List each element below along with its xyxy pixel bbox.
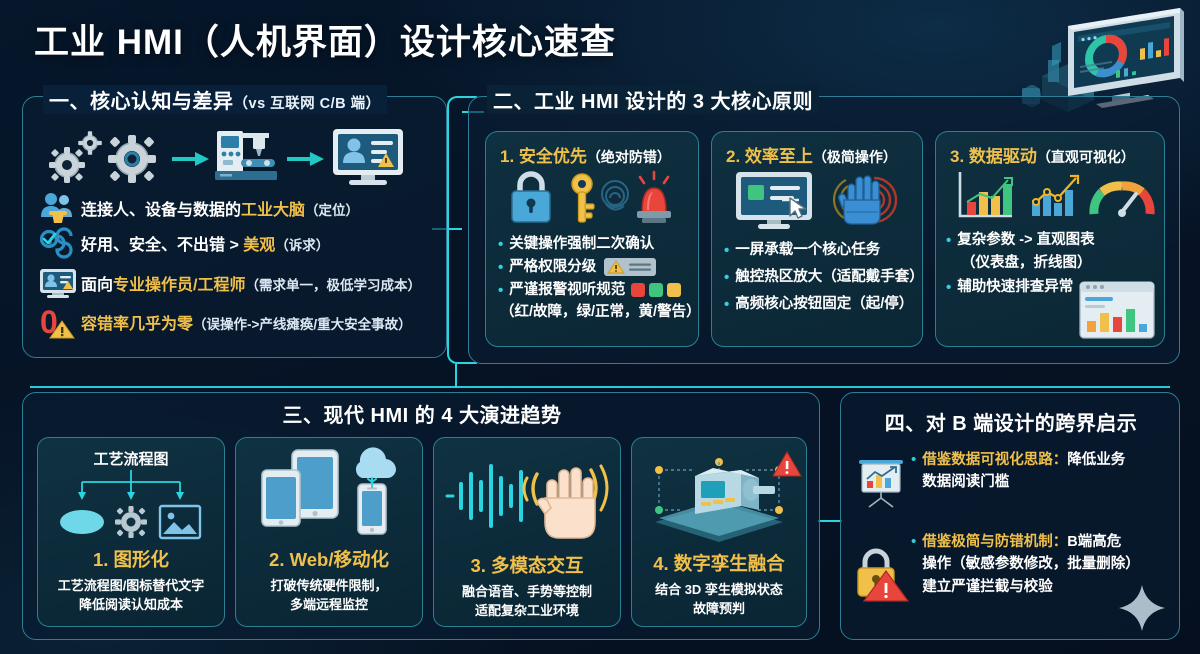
bullet-item: • 触控热区放大（适配戴手套） [724, 267, 920, 289]
section1-row: 面向专业操作员/工程师（需求单一，极低学习成本） [35, 267, 421, 299]
trend-desc-graphical: 工艺流程图/图标替代文字 降低阅读认知成本 [58, 577, 205, 615]
data-icon-row [954, 170, 1154, 222]
bullet-dot: • [724, 294, 729, 316]
people-connect-icon [35, 191, 81, 225]
bullet-text: 高频核心按钮固定（起/停） [735, 294, 913, 316]
status-swatch-yellow [667, 283, 681, 297]
safety-icon-row [506, 170, 686, 226]
section1-row-text: 容错率几乎为零（误操作->产线瘫痪/重大安全事故） [81, 310, 412, 334]
monitor-cursor-icon [736, 172, 812, 229]
section-design-principles: 二、工业 HMI 设计的 3 大核心原则 1. 安全优先（绝对防错） [468, 96, 1180, 364]
section1-row-text: 面向专业操作员/工程师（需求单一，极低学习成本） [81, 271, 421, 295]
principle-card-efficiency: 2. 效率至上（极简操作） [711, 131, 923, 347]
efficiency-icon-row [734, 170, 910, 230]
gears-icon [49, 131, 156, 183]
trend-card-multimodal: 3. 多模态交互 融合语音、手势等控制 适配复杂工业环境 [433, 437, 621, 627]
section1-row: 连接人、设备与数据的工业大脑（定位） [35, 191, 359, 225]
arrow-right-icon [172, 152, 209, 166]
bullet-item: • 严谨报警视听规范 [498, 280, 696, 302]
bullet-text: 触控热区放大（适配戴手套） [735, 267, 924, 289]
hmi-monitor-icon [333, 129, 403, 185]
infinity-check-icon [35, 229, 81, 257]
section1-row-text: 好用、安全、不出错 > 美观（诉求） [81, 231, 329, 255]
bullet-text: 严格权限分级 [509, 257, 596, 279]
gauge-icon [1094, 186, 1150, 217]
bullet-dot: • [946, 277, 951, 299]
zero-warning-icon: 0 [35, 305, 81, 339]
tablet-phone-cloud-icon [244, 444, 414, 544]
section1-title: 一、核心认知与差异（vs 互联网 C/B 端） [43, 85, 387, 114]
bullet-text: 严谨报警视听规范 [509, 280, 625, 302]
section2-title: 二、工业 HMI 设计的 3 大核心原则 [487, 85, 819, 114]
gloved-hand-fingerprint-icon [834, 176, 896, 224]
rgy-status-swatches [631, 280, 681, 297]
digital-twin-icon [637, 448, 801, 546]
card-title-efficiency: 2. 效率至上（极简操作） [726, 142, 897, 167]
bullet-text: 一屏承载一个核心任务 [735, 240, 880, 262]
section3-title: 三、现代 HMI 的 4 大演进趋势 [23, 399, 821, 428]
section1-title-sub: （vs 互联网 C/B 端） [234, 96, 381, 112]
status-swatch-green [649, 283, 663, 297]
safety-bullets: • 关键操作强制二次确认 • 严格权限分级 [498, 234, 696, 324]
principle-card-data-driven: 3. 数据驱动（直观可视化） [935, 131, 1165, 347]
trend-desc-digital-twin: 结合 3D 孪生模拟状态 故障预判 [655, 581, 783, 619]
insight-text-visualization: 借鉴数据可视化思路：降低业务数据阅读门槛 [922, 449, 1125, 494]
trend-card-web-mobile: 2. Web/移动化 打破传统硬件限制， 多端远程监控 [235, 437, 423, 627]
insight-text-error-prevention: 借鉴极简与防错机制：B端高危操作（敏感参数修改，批量删除）建立严谨拦截与校验 [922, 531, 1140, 598]
section4-title: 四、对 B 端设计的跨界启示 [841, 407, 1181, 436]
status-swatch-red [631, 283, 645, 297]
insight-row-visualization: • 借鉴数据可视化思路：降低业务数据阅读门槛 [853, 449, 1171, 511]
card-title-safety: 1. 安全优先（绝对防错） [500, 142, 671, 167]
voice-wave-hand-icon [441, 456, 613, 542]
infographic-page: 工业 HMI（人机界面）设计核心速查 [0, 0, 1200, 654]
bullet-dot: • [724, 267, 729, 289]
connector-s3-s4 [818, 520, 842, 522]
permission-warning-icon [604, 257, 656, 277]
trend-desc-multimodal: 融合语音、手势等控制 适配复杂工业环境 [462, 583, 592, 621]
svg-text:工艺流程图: 工艺流程图 [93, 450, 168, 468]
trend-title-web-mobile: 2. Web/移动化 [269, 546, 389, 572]
section1-row-text: 连接人、设备与数据的工业大脑（定位） [81, 196, 359, 220]
bullet-dot: • [911, 451, 916, 468]
efficiency-bullets: • 一屏承载一个核心任务 • 触控热区放大（适配戴手套） • 高频核心按钮固定（… [724, 240, 920, 316]
trend-card-digital-twin: 4. 数字孪生融合 结合 3D 孪生模拟状态 故障预判 [631, 437, 807, 627]
principle-card-safety: 1. 安全优先（绝对防错） [485, 131, 699, 347]
connector-s2-s3-vert [455, 364, 457, 388]
data-continuation: （仪表盘，折线图） [961, 253, 1162, 275]
padlock-icon [512, 174, 550, 222]
page-title: 工业 HMI（人机界面）设计核心速查 [34, 14, 616, 65]
section-evolution-trends: 三、现代 HMI 的 4 大演进趋势 工艺流程图 [22, 392, 820, 640]
bullet-text: 关键操作强制二次确认 [509, 234, 654, 256]
bullet-dot: • [498, 257, 503, 279]
connector-bottom-bus [30, 386, 1170, 388]
process-flow-diagram-icon: 工艺流程图 [46, 446, 216, 542]
bullet-dot: • [911, 533, 916, 550]
card-title-data-driven: 3. 数据驱动（直观可视化） [950, 142, 1135, 167]
arrow-right-icon [287, 152, 324, 166]
bullet-text: 复杂参数 -> 直观图表 [957, 230, 1094, 252]
bullet-dot: • [724, 240, 729, 262]
bullet-dot: • [498, 234, 503, 256]
bullet-item: • 复杂参数 -> 直观图表 [946, 230, 1162, 252]
lock-warning-icon [853, 531, 911, 603]
section-core-cognition: 一、核心认知与差异（vs 互联网 C/B 端） [22, 96, 447, 358]
trend-title-graphical: 1. 图形化 [93, 546, 169, 572]
dashboard-window-icon [1078, 280, 1156, 340]
alarm-beacon-icon [637, 172, 671, 223]
bullet-text: 辅助快速排查异常 [957, 277, 1073, 299]
section-cross-domain-insights: 四、对 B 端设计的跨界启示 • 借鉴数据可视化思路：降低业务数据阅读门槛 [840, 392, 1180, 640]
bullet-item: • 高频核心按钮固定（起/停） [724, 294, 920, 316]
bullet-item: • 严格权限分级 [498, 257, 696, 279]
sparkle-icon [1119, 585, 1165, 631]
section1-row: 0 容错率几乎为零（误操作->产线瘫痪/重大安全事故） [35, 305, 412, 339]
section1-title-text: 一、核心认知与差异 [49, 91, 234, 113]
bullet-dot: • [946, 230, 951, 252]
cnc-machine-icon [215, 131, 277, 180]
section1-row: 好用、安全、不出错 > 美观（诉求） [35, 229, 329, 257]
presentation-chart-icon [853, 449, 911, 511]
line-chart-icon [1032, 176, 1078, 216]
bar-chart-icon [960, 172, 1012, 216]
safety-continuation: （红/故障，绿/正常，黄/警告） [500, 302, 696, 324]
operator-monitor-icon [35, 267, 81, 299]
bullet-item: • 关键操作强制二次确认 [498, 234, 696, 256]
key-fingerprint-icon [572, 174, 628, 222]
section1-flow-row [37, 123, 437, 185]
trend-title-multimodal: 3. 多模态交互 [470, 552, 583, 578]
bullet-dot: • [498, 280, 503, 302]
trend-title-digital-twin: 4. 数字孪生融合 [653, 550, 785, 576]
trend-desc-web-mobile: 打破传统硬件限制， 多端远程监控 [270, 577, 387, 615]
trend-card-graphical: 工艺流程图 [37, 437, 225, 627]
bullet-item: • 一屏承载一个核心任务 [724, 240, 920, 262]
